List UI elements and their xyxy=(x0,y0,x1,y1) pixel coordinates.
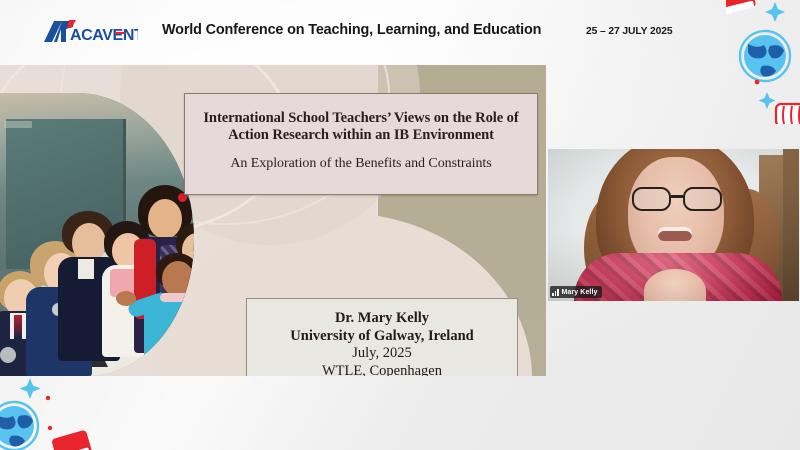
slide-author-box: Dr. Mary Kelly University of Galway, Ire… xyxy=(246,298,518,376)
striped-ribbon-shape xyxy=(776,104,800,124)
slide-title-box: International School Teachers’ Views on … xyxy=(184,93,538,195)
participant-name-label: Mary Kelly xyxy=(550,286,602,298)
slide-title: International School Teachers’ Views on … xyxy=(197,110,525,143)
page-header: ACAVENT World Conference on Teaching, Le… xyxy=(0,0,800,64)
participant-video-tile[interactable]: Mary Kelly xyxy=(548,149,799,301)
sparkle-star-icon xyxy=(20,378,41,399)
presenter-name: Dr. Mary Kelly xyxy=(247,310,517,328)
video-vignette xyxy=(548,149,799,301)
decoration-bottom-left xyxy=(0,376,112,450)
sparkle-star-icon xyxy=(759,92,776,109)
acavent-logo[interactable]: ACAVENT xyxy=(42,19,138,45)
children-globe-photo xyxy=(0,93,194,376)
presentation-venue: WTLE, Copenhagen xyxy=(247,363,517,376)
participant-name: Mary Kelly xyxy=(562,289,598,296)
signal-bars-icon xyxy=(552,289,559,296)
slide-subtitle: An Exploration of the Benefits and Const… xyxy=(197,156,525,172)
conference-stream-screen: ACAVENT World Conference on Teaching, Le… xyxy=(0,0,800,450)
presentation-date: July, 2025 xyxy=(247,345,517,363)
conference-date: 25 – 27 JULY 2025 xyxy=(586,26,672,37)
presenter-affiliation: University of Galway, Ireland xyxy=(247,328,517,346)
red-book-shape xyxy=(51,430,93,450)
conference-title: World Conference on Teaching, Learning, … xyxy=(162,22,541,38)
svg-text:ACAVENT: ACAVENT xyxy=(70,27,138,44)
shared-slide[interactable]: International School Teachers’ Views on … xyxy=(0,65,546,376)
photo-child xyxy=(150,253,194,376)
blue-globe-icon xyxy=(0,402,38,450)
photo-wall-sign xyxy=(4,121,32,128)
acavent-logo-icon: ACAVENT xyxy=(42,19,138,45)
